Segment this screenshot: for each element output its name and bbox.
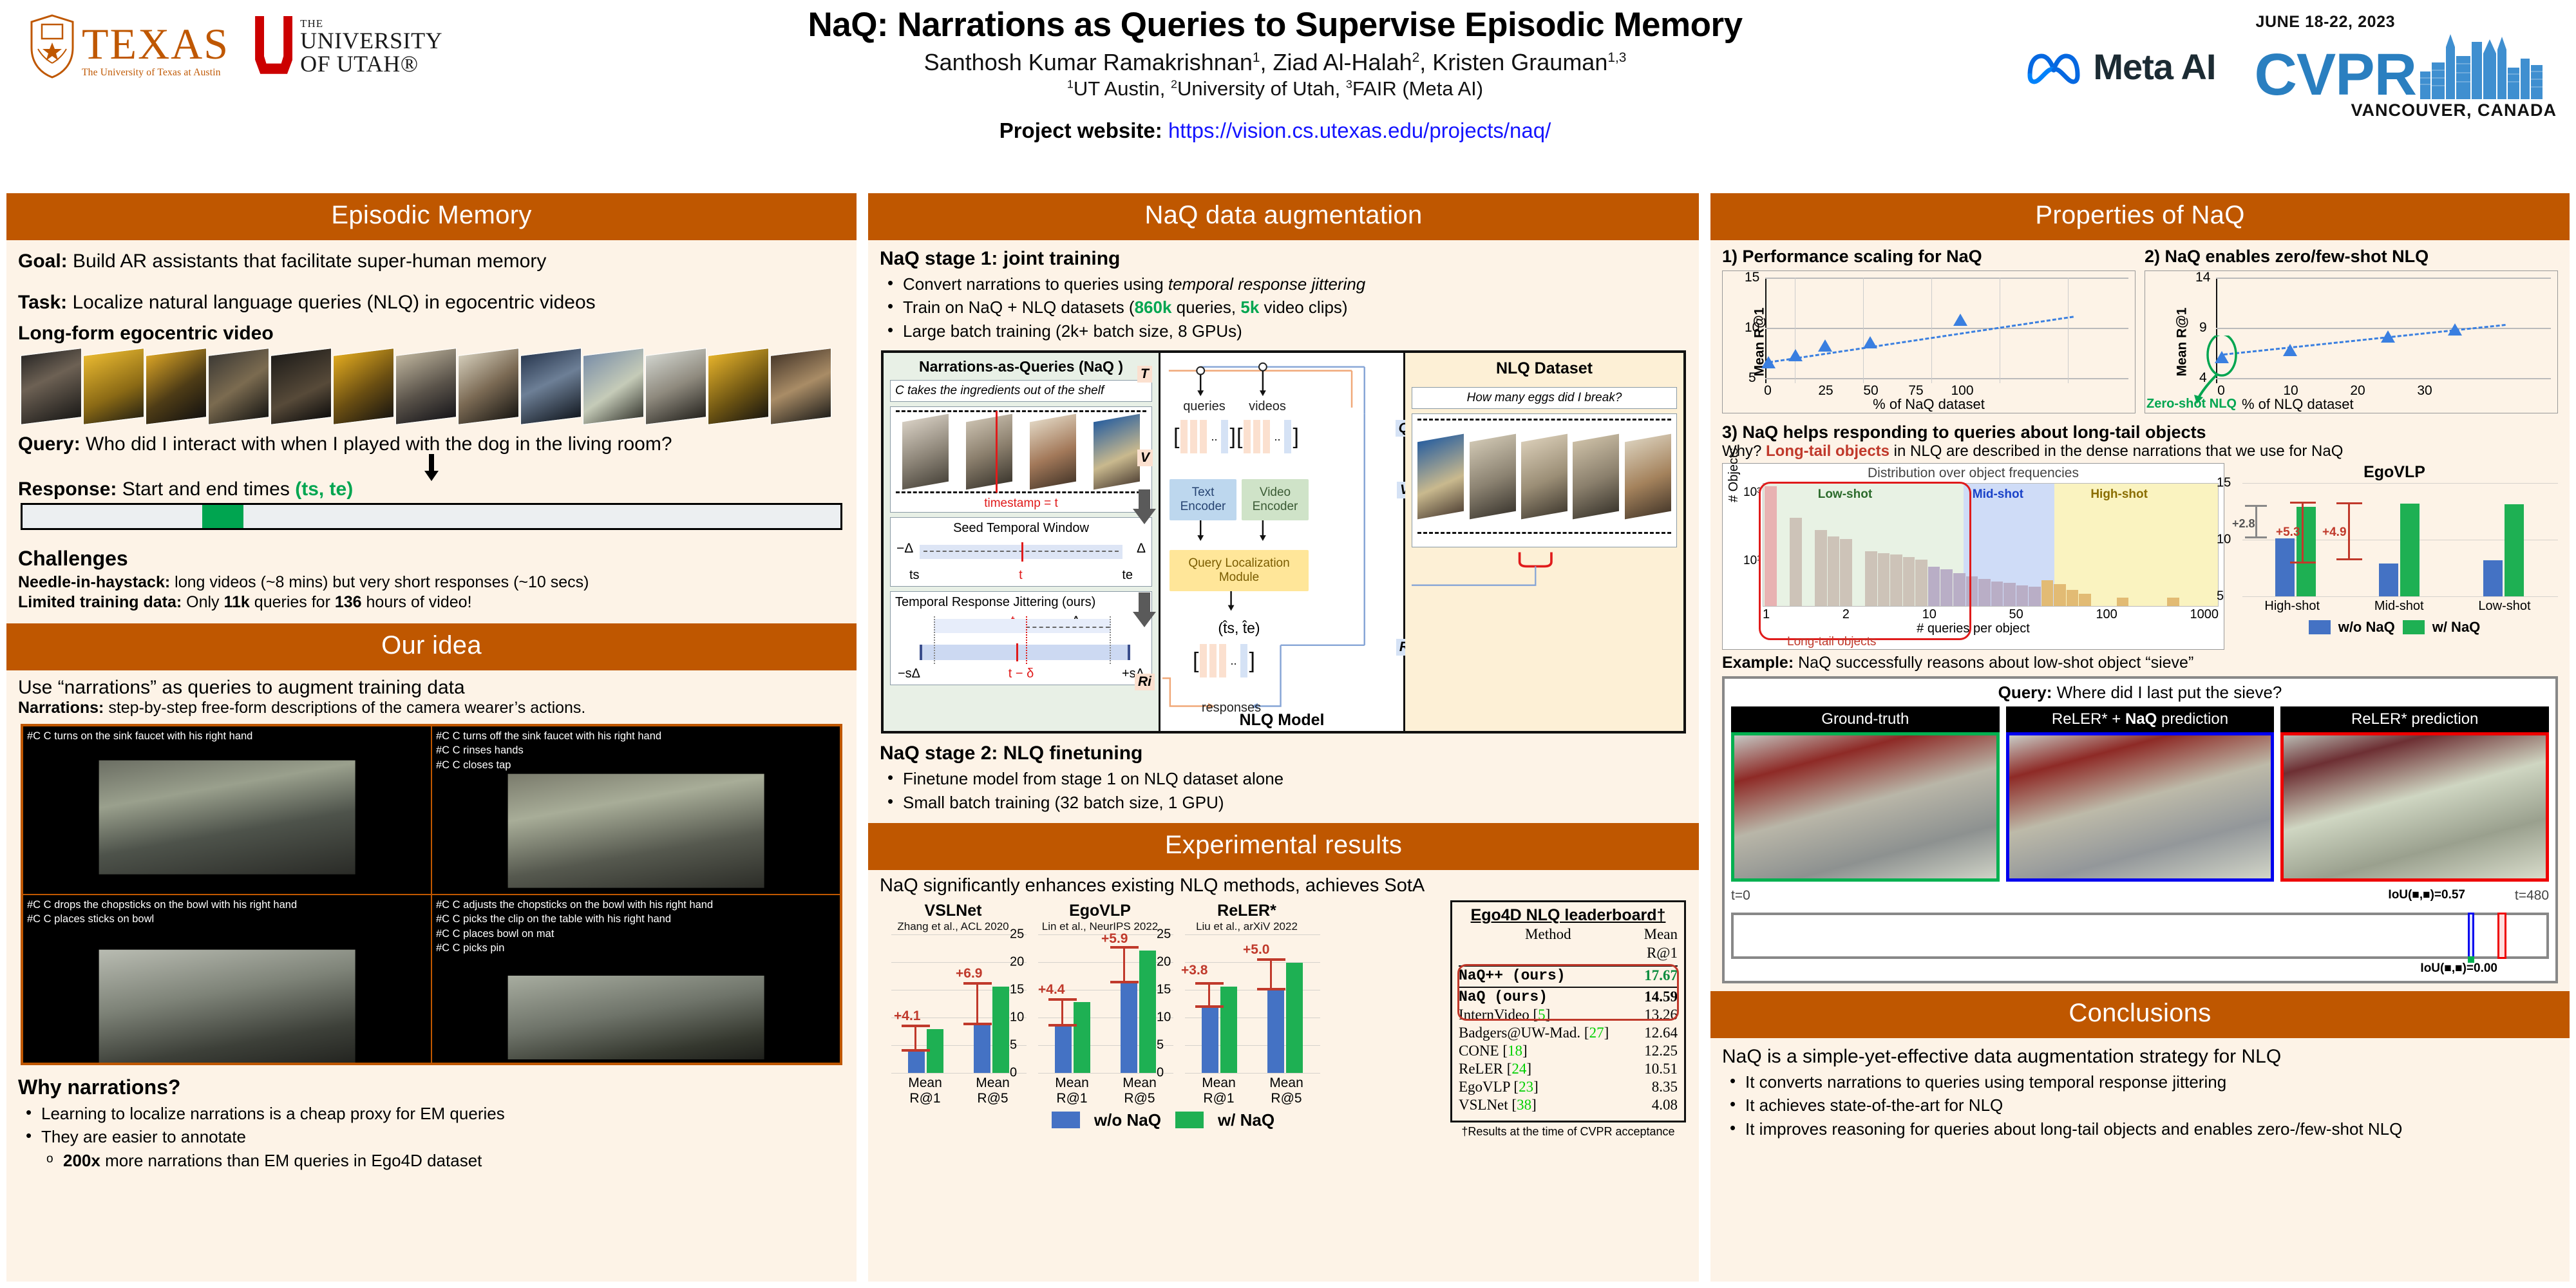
trj-mid: t − δ <box>1009 667 1034 681</box>
affil-3: FAIR (Meta AI) <box>1352 77 1483 100</box>
challenge-data-hours: 136 <box>335 593 362 611</box>
method-cell: EgoVLP [23] <box>1459 1078 1638 1096</box>
chart-subtitle: Lin et al., NeurIPS 2022 <box>1027 920 1173 933</box>
videos-label: videos <box>1235 399 1300 414</box>
method-cell: Badgers@UW-Mad. [27] <box>1459 1024 1638 1042</box>
table-row: CONE [18] 12.25 <box>1459 1042 1678 1060</box>
chart-egovlp: EgoVLP Lin et al., NeurIPS 2022 25 20 15… <box>1027 902 1173 1106</box>
trj-box: Temporal Response Jittering (ours) t Δ −… <box>890 591 1152 685</box>
ut-tagline: The University of Texas at Austin <box>82 67 229 79</box>
zero-shot-label: Zero-shot NLQ <box>2146 397 2237 412</box>
list-item: Learning to localize narrations is a che… <box>22 1102 845 1125</box>
stage1-bullets: Convert narrations to queries using temp… <box>884 272 1687 343</box>
list-item: It achieves state-of-the-art for NLQ <box>1726 1094 2558 1117</box>
bars <box>2244 483 2555 596</box>
trj-labels: −sΔ t − δ +sΔ <box>895 667 1147 681</box>
task-text: Localize natural language queries (NLQ) … <box>73 292 596 313</box>
response-line: Response: Start and end times (ts, te) <box>18 478 845 500</box>
page-title: NaQ: Narrations as Queries to Supervise … <box>683 6 1868 44</box>
timestamp-strip-box: timestamp = t <box>890 406 1152 513</box>
vancouver-skyline-icon <box>2416 32 2545 99</box>
affil-2-sup: 2 <box>1171 78 1177 91</box>
method-ref: 24 <box>1511 1061 1526 1077</box>
narration-thumbnail <box>507 774 764 888</box>
bar-group-r5 <box>974 934 1009 1073</box>
narration-thumbnail <box>99 949 355 1063</box>
ut-wordmark: TEXAS The University of Texas at Austin <box>82 23 229 79</box>
video-embedding-vector: [..] <box>1236 420 1299 453</box>
utah-the: THE <box>300 18 442 29</box>
y-tick: 15 <box>2217 476 2231 491</box>
histogram-wrap: Distribution over object frequencies # O… <box>1722 463 2224 650</box>
video-header-reler-prediction: ReLER* prediction <box>2280 706 2549 732</box>
method-cell: VSLNet [38] <box>1459 1096 1638 1114</box>
bar-group-r1 <box>1055 934 1090 1073</box>
video-frame <box>83 348 144 425</box>
ut-austin-logo: TEXAS The University of Texas at Austin <box>29 14 229 79</box>
data-point <box>1863 336 1877 348</box>
header-post: prediction <box>2157 710 2228 728</box>
method-ref: 23 <box>1519 1079 1533 1095</box>
utah-university: UNIVERSITY <box>300 29 442 52</box>
nlq-dataset-panel: NLQ Dataset How many eggs did I break? <box>1405 353 1683 731</box>
video-frame <box>708 348 769 425</box>
timestamp-label: timestamp = t <box>893 497 1149 511</box>
cvpr-wordmark: CVPR <box>2254 51 2416 99</box>
y-tick: 10 <box>2217 533 2231 547</box>
bar-wo-naq <box>2275 538 2295 596</box>
table-row: ReLER [24] 10.51 <box>1459 1060 1678 1078</box>
bar-group-r5 <box>1267 934 1303 1073</box>
queries-label: queries <box>1172 399 1236 414</box>
challenge-needle: Needle-in-haystack: long videos (~8 mins… <box>18 573 845 592</box>
task-line: Task: Localize natural language queries … <box>18 292 845 314</box>
y-tick: 0 <box>1010 1065 1017 1080</box>
challenge-needle-text: long videos (~8 mins) but very short res… <box>175 573 589 591</box>
flow-arrow-down <box>18 454 845 481</box>
narration-quote-box: C takes the ingredients out of the shelf <box>890 380 1152 402</box>
video-thumbnail <box>2280 732 2549 882</box>
naq-panel-title: Narrations-as-Queries (NaQ ) <box>890 358 1152 375</box>
poster-header: TEXAS The University of Texas at Austin … <box>0 0 2576 193</box>
affil-3-sup: 3 <box>1346 78 1352 91</box>
legend-label-wo-naq: w/o NaQ <box>2338 619 2395 636</box>
y-tick: 10 <box>1745 320 1759 336</box>
seed-window-labels: ts t te <box>895 568 1147 583</box>
affil-2: University of Utah, <box>1177 77 1346 100</box>
method-ref: 38 <box>1517 1097 1531 1113</box>
chart-reler: ReLER* Liu et al., arXiV 2022 25 20 15 1… <box>1173 902 1320 1106</box>
flow-arrow-icon <box>1132 592 1157 627</box>
why-narrations-list: Learning to localize narrations is a che… <box>22 1102 845 1172</box>
delta-high-shot: +2.8 <box>2232 517 2255 531</box>
histogram-title: Distribution over object frequencies <box>1723 466 2224 481</box>
x-tick: 0 <box>2217 383 2225 399</box>
x-tick: 1 <box>1763 607 1770 622</box>
trj-left: −sΔ <box>898 667 920 681</box>
ego4d-leaderboard: Ego4D NLQ leaderboard† Method Mean R@1 N… <box>1450 900 1686 1122</box>
project-website-line: Project website: https://vision.cs.utexa… <box>683 118 1868 143</box>
response-label: Response: <box>18 478 117 500</box>
narration-examples-grid: #C C turns on the sink faucet with his r… <box>21 724 842 1065</box>
y-tick: 10 <box>1157 1010 1171 1025</box>
response-embedding-vector: [..] <box>1193 644 1255 677</box>
narration-cell: #C C turns on the sink faucet with his r… <box>23 726 431 895</box>
bar-group-r1 <box>908 934 943 1073</box>
x-tick-labels: Mean R@1 Mean R@5 <box>880 1075 1027 1106</box>
long-tail-objects-emphasis: Long-tail objects <box>1766 442 1889 460</box>
naq-stage1-panel: NaQ stage 1: joint training Convert narr… <box>868 248 1699 814</box>
challenge-data-post: hours of video! <box>362 593 472 611</box>
bar-group-low-shot <box>2483 483 2524 596</box>
idea-title: Use “narrations” as queries to augment t… <box>18 677 845 699</box>
nlq-video-strip-box <box>1412 413 1677 547</box>
query-label: Query: <box>18 433 80 455</box>
x-tick: 100 <box>2096 607 2117 622</box>
seed-t: t <box>1019 568 1023 583</box>
y-tick: 5 <box>1010 1037 1017 1052</box>
plot-area: 25 20 15 10 5 0 <box>1027 934 1173 1073</box>
video-frame <box>270 348 332 425</box>
text-encoder-block: Text Encoder <box>1170 479 1236 520</box>
cvpr-city: VANCOUVER, CANADA <box>2351 100 2557 120</box>
chart-vslnet: VSLNet Zhang et al., ACL 2020 <box>880 902 1027 1106</box>
plot-area: 25 20 15 10 5 0 <box>1173 934 1320 1073</box>
legend-swatch-w-naq <box>2403 620 2425 634</box>
bars <box>893 934 1024 1073</box>
plot-area: +4.1 +6.9 <box>880 934 1027 1073</box>
author-2: , Ziad Al-Halah <box>1260 49 1412 75</box>
website-label: Project website: <box>999 118 1162 142</box>
results-headline: NaQ significantly enhances existing NLQ … <box>880 875 1687 896</box>
naq-clip-count: 5k <box>1240 298 1259 317</box>
stage1-b1-post: video clips) <box>1259 298 1347 317</box>
timeline-marker-naq <box>2468 913 2474 959</box>
seed-window-diagram: −Δ Δ <box>895 538 1147 568</box>
flow-arrow-icon <box>1132 489 1157 524</box>
egocentric-filmstrip <box>21 348 845 424</box>
narration-cell: #C C adjusts the chopsticks on the bowl … <box>431 895 840 1063</box>
stage1-title: NaQ stage 1: joint training <box>880 248 1687 270</box>
y-tick: 25 <box>1010 927 1024 942</box>
bar-group-high-shot <box>2275 483 2316 596</box>
ut-texas-word: TEXAS <box>82 23 229 65</box>
column-left: Episodic Memory Goal: Build AR assistant… <box>6 193 857 1282</box>
col-mean: Mean <box>1638 925 1678 944</box>
list-item: They are easier to annotate <box>22 1125 845 1148</box>
chart-egovlp-shots: EgoVLP 15 10 5 <box>2231 463 2558 650</box>
video-thumbnail <box>2006 732 2275 882</box>
list-item: Large batch training (2k+ batch size, 8 … <box>884 319 1687 343</box>
y-tick: 0 <box>1157 1065 1164 1080</box>
list-item: Convert narrations to queries using temp… <box>884 272 1687 296</box>
data-point <box>2381 330 2395 343</box>
example-text: NaQ successfully reasons about low-shot … <box>1798 654 2193 672</box>
seed-temporal-window-box: Seed Temporal Window −Δ Δ ts t te <box>890 517 1152 587</box>
chart-fewshot-nlq: Mean R@1 14 9 4 <box>2145 270 2558 413</box>
video-frame <box>458 348 519 425</box>
long-tail-caption: Long-tail objects <box>1787 635 1876 649</box>
data-point <box>1788 349 1803 361</box>
utah-u-icon <box>255 16 292 77</box>
video-frame <box>21 348 82 425</box>
chart-title: VSLNet <box>880 902 1027 920</box>
nlq-dataset-title: NLQ Dataset <box>1412 359 1677 378</box>
video-frame <box>583 348 644 425</box>
delta-r1: +4.4 <box>1038 982 1065 998</box>
plot-area: 15 10 5 <box>2231 483 2558 596</box>
section-band-naq-augmentation: NaQ data augmentation <box>868 193 1699 240</box>
property-2: 2) NaQ enables zero/few-shot NLQ Mean R@… <box>2145 247 2558 413</box>
narrations-label: Narrations: <box>18 699 104 717</box>
why-post: in NLQ are described in the dense narrat… <box>1889 442 2343 460</box>
bar-w-naq <box>1220 987 1237 1072</box>
bar-wo-naq <box>1121 983 1137 1072</box>
method-name: Badgers@UW-Mad. <box>1459 1025 1580 1041</box>
video-cell-ground-truth: Ground-truth <box>1731 706 2000 882</box>
narrations-definition: Narrations: step-by-step free-form descr… <box>18 699 845 717</box>
author-3: , Kristen Grauman <box>1419 49 1607 75</box>
property-2-title: 2) NaQ enables zero/few-shot NLQ <box>2145 247 2558 267</box>
challenge-data-mid: queries for <box>250 593 335 611</box>
timestamp-marker <box>996 411 998 493</box>
meta-infinity-icon <box>2025 48 2083 86</box>
seed-minus-delta: −Δ <box>896 541 913 556</box>
stage1-b1-pre: Train on NaQ + NLQ datasets ( <box>903 298 1135 317</box>
episodic-memory-panel: Goal: Build AR assistants that facilitat… <box>6 251 857 612</box>
query-text: Who did I interact with when I played wi… <box>86 433 672 455</box>
x-tick: 30 <box>2417 383 2432 399</box>
method-cell: ReLER [24] <box>1459 1060 1638 1078</box>
video-frame <box>770 348 831 425</box>
chart-title: EgoVLP <box>2231 463 2558 482</box>
video-header-ground-truth: Ground-truth <box>1731 706 2000 732</box>
y-tick: 14 <box>2195 270 2210 285</box>
y-tick: 15 <box>1745 270 1759 285</box>
histogram-x-ticks: 1 2 10 50 100 1000 <box>1763 607 2219 622</box>
x-tick: High-shot <box>2264 599 2320 614</box>
chart-title: EgoVLP <box>1027 902 1173 920</box>
bar-charts-group: VSLNet Zhang et al., ACL 2020 <box>880 902 1446 1106</box>
x-tick: Low-shot <box>2478 599 2530 614</box>
chart-subtitle: Liu et al., arXiV 2022 <box>1173 920 1320 933</box>
seed-window-title: Seed Temporal Window <box>895 521 1147 536</box>
video-frame <box>1094 414 1140 490</box>
delta-r5: +5.0 <box>1243 942 1269 958</box>
x-tick: 50 <box>2009 607 2023 622</box>
bar-chart-legend: w/o NaQ w/ NaQ <box>880 1110 1446 1130</box>
x-tick: Mean R@1 <box>1185 1075 1253 1106</box>
narration-text: #C C drops the chopsticks on the bowl wi… <box>27 898 430 927</box>
header-pre: ReLER* + <box>2052 710 2125 728</box>
legend-label-w-naq: w/ NaQ <box>2432 619 2481 636</box>
response-timeline <box>21 503 842 530</box>
y-tick: 15 <box>1157 982 1171 997</box>
nlq-filmstrip <box>1415 417 1674 536</box>
narrations-text: step-by-step free-form descriptions of t… <box>108 699 585 717</box>
data-point <box>1761 356 1776 368</box>
bar-w-naq <box>2400 504 2420 596</box>
list-item: Train on NaQ + NLQ datasets (860k querie… <box>884 296 1687 319</box>
leaderboard-title: Ego4D NLQ leaderboard† <box>1459 906 1678 925</box>
x-tick: Mean R@5 <box>1253 1075 1320 1106</box>
narration-thumbnail <box>507 976 764 1059</box>
trj-diagram: t Δ <box>895 615 1147 667</box>
leaderboard-wrap: Ego4D NLQ leaderboard† Method Mean R@1 N… <box>1450 900 1686 1139</box>
timeline-top-labels: t=0 t=480 IoU(■,■)=0.57 <box>1731 888 2549 910</box>
x-tick: Mid-shot <box>2374 599 2424 614</box>
leaderboard-footnote: †Results at the time of CVPR acceptance <box>1450 1125 1686 1139</box>
predicted-times: (t̂s, t̂e) <box>1170 620 1309 637</box>
histogram-x-label: # queries per object <box>1723 621 2224 636</box>
utah-wordmark: THE UNIVERSITY OF UTAH® <box>300 18 442 75</box>
qualitative-example-box: Query: Where did I last put the sieve? G… <box>1722 676 2558 983</box>
example-query-line: Query: Where did I last put the sieve? <box>1731 683 2549 703</box>
project-website-link[interactable]: https://vision.cs.utexas.edu/projects/na… <box>1168 118 1551 142</box>
delta-r5: +5.9 <box>1101 931 1128 947</box>
example-query-label: Query: <box>1998 683 2052 702</box>
goal-label: Goal: <box>18 251 68 272</box>
poster-root: TEXAS The University of Texas at Austin … <box>0 0 2576 1288</box>
data-point <box>1818 339 1832 352</box>
stage1-b0-pre: Convert narrations to queries using <box>903 274 1168 294</box>
data-point <box>1953 314 1967 326</box>
narration-multiplier-text: more narrations than EM queries in Ego4D… <box>100 1151 482 1170</box>
chart-scaling-naq: Mean R@1 15 10 5 <box>1722 270 2136 413</box>
method-name: CONE <box>1459 1043 1499 1059</box>
narration-text: #C C turns off the sink faucet with his … <box>436 729 838 772</box>
university-of-utah-logo: THE UNIVERSITY OF UTAH® <box>255 16 442 77</box>
stage1-b1-mid: queries, <box>1171 298 1240 317</box>
table-header-row: Method Mean <box>1459 925 1678 944</box>
egovlp-legend: w/o NaQ w/ NaQ <box>2231 619 2558 636</box>
conclusions-panel: NaQ is a simple-yet-effective data augme… <box>1710 1046 2570 1141</box>
conclusions-list: It converts narrations to queries using … <box>1726 1070 2558 1141</box>
property-1-title: 1) Performance scaling for NaQ <box>1722 247 2136 267</box>
timestamp-filmstrip <box>893 408 1149 495</box>
method-ref: 27 <box>1589 1025 1604 1041</box>
legend-label-w-naq: w/ NaQ <box>1218 1110 1274 1130</box>
y-tick: 20 <box>1157 954 1171 969</box>
narration-quote: C takes the ingredients out of the shelf <box>895 384 1147 398</box>
list-item: It converts narrations to queries using … <box>1726 1070 2558 1094</box>
data-point <box>2283 344 2297 356</box>
narration-cell: #C C turns off the sink faucet with his … <box>431 726 840 895</box>
properties-row-1: 1) Performance scaling for NaQ Mean R@1 … <box>1722 247 2558 413</box>
col-r1: R@1 <box>1638 944 1678 962</box>
tag-Ri: Ri <box>1135 674 1155 690</box>
video-header-naq-prediction: ReLER* + NaQ prediction <box>2006 706 2275 732</box>
method-score: 8.35 <box>1638 1078 1678 1096</box>
zero-shot-annotation-icon <box>2185 336 2243 406</box>
list-item: 200x more narrations than EM queries in … <box>22 1149 845 1172</box>
property-3-title: 3) NaQ helps responding to queries about… <box>1722 422 2558 442</box>
delta-r1: +3.8 <box>1181 963 1207 978</box>
trj-title: Temporal Response Jittering (ours) <box>895 595 1147 610</box>
bar-w-naq <box>2297 507 2316 596</box>
query-line: Query: Who did I interact with when I pl… <box>18 433 845 455</box>
goal-text: Build AR assistants that facilitate supe… <box>73 251 546 272</box>
why-narrations-title: Why narrations? <box>18 1075 845 1099</box>
section-band-experimental-results: Experimental results <box>868 823 1699 870</box>
nlq-query-example: How many eggs did I break? <box>1417 391 1672 405</box>
title-block: NaQ: Narrations as Queries to Supervise … <box>683 6 1868 143</box>
x-axis-label: % of NaQ dataset <box>1723 396 2135 413</box>
timeline-end: t=480 <box>2515 888 2549 904</box>
bar-wo-naq <box>2379 563 2398 596</box>
longform-video-label: Long-form egocentric video <box>18 323 845 345</box>
task-label: Task: <box>18 292 67 313</box>
narration-text: #C C turns on the sink faucet with his r… <box>27 729 430 743</box>
section-band-episodic-memory: Episodic Memory <box>6 193 857 240</box>
meta-ai-logo: Meta AI <box>2025 46 2215 88</box>
video-encoder-block: Video Encoder <box>1242 479 1309 520</box>
bar-wo-naq <box>2483 560 2503 596</box>
seed-plus-delta: Δ <box>1137 541 1146 556</box>
method-name: ReLER <box>1459 1061 1503 1077</box>
method-name: EgoVLP <box>1459 1079 1510 1095</box>
bar-wo-naq <box>1055 1027 1072 1073</box>
narration-cell: #C C drops the chopsticks on the bowl wi… <box>23 895 431 1063</box>
x-tick: 1000 <box>2190 607 2219 622</box>
iou-green-red: IoU(■,■)=0.00 <box>1731 961 2549 976</box>
y-tick: 20 <box>1010 954 1024 969</box>
tag-V: V <box>1137 450 1153 466</box>
chart-object-frequency: Distribution over object frequencies # O… <box>1722 463 2224 650</box>
stage2-bullets: Finetune model from stage 1 on NLQ datas… <box>884 767 1687 814</box>
response-text: Start and end times <box>122 478 290 500</box>
timeline-marker-gt <box>2468 956 2474 963</box>
narration-thumbnail <box>99 761 355 875</box>
video-frame <box>333 348 394 425</box>
legend-swatch-wo-naq <box>2309 620 2331 634</box>
table-row: Badgers@UW-Mad. [27] 12.64 <box>1459 1024 1678 1042</box>
author-3-affil: 1,3 <box>1607 50 1626 65</box>
histogram-y-label: # Objects <box>1727 448 1741 502</box>
delta-r1: +4.1 <box>894 1009 920 1024</box>
naq-panel: Narrations-as-Queries (NaQ ) C takes the… <box>884 353 1160 731</box>
method-cell: CONE [18] <box>1459 1042 1638 1060</box>
method-score: 12.64 <box>1638 1024 1678 1042</box>
bar-group-r5 <box>1121 934 1156 1073</box>
method-score: 10.51 <box>1638 1060 1678 1078</box>
challenge-data-label: Limited training data: <box>18 593 182 611</box>
section-band-properties: Properties of NaQ <box>1710 193 2570 240</box>
challenge-data-pre: Only <box>186 593 223 611</box>
challenges-title: Challenges <box>18 547 845 571</box>
y-tick: 10 <box>1010 1010 1024 1025</box>
chart-title: ReLER* <box>1173 902 1320 920</box>
iou-green-blue: IoU(■,■)=0.57 <box>2388 888 2465 902</box>
affiliation-list: 1UT Austin, 2University of Utah, 3FAIR (… <box>683 77 1868 100</box>
left-logos: TEXAS The University of Texas at Austin … <box>29 14 442 79</box>
video-frame <box>902 414 949 490</box>
delta-low-shot: +4.9 <box>2322 526 2347 540</box>
section-band-our-idea: Our idea <box>6 623 857 670</box>
bar-group-r1 <box>1202 934 1237 1073</box>
author-2-affil: 2 <box>1412 50 1420 65</box>
bar-w-naq <box>1139 951 1156 1072</box>
query-localization-module-block: Query Localization Module <box>1170 550 1309 591</box>
legend-swatch-wo-naq <box>1052 1112 1080 1128</box>
x-tick: 2 <box>1842 607 1850 622</box>
meta-ai-wordmark: Meta AI <box>2093 46 2215 88</box>
example-line: Example: NaQ successfully reasons about … <box>1722 654 2558 672</box>
legend-swatch-w-naq <box>1175 1112 1204 1128</box>
bar-w-naq <box>2505 504 2524 596</box>
author-1-affil: 1 <box>1253 50 1260 65</box>
y-tick: 5 <box>2217 589 2224 604</box>
